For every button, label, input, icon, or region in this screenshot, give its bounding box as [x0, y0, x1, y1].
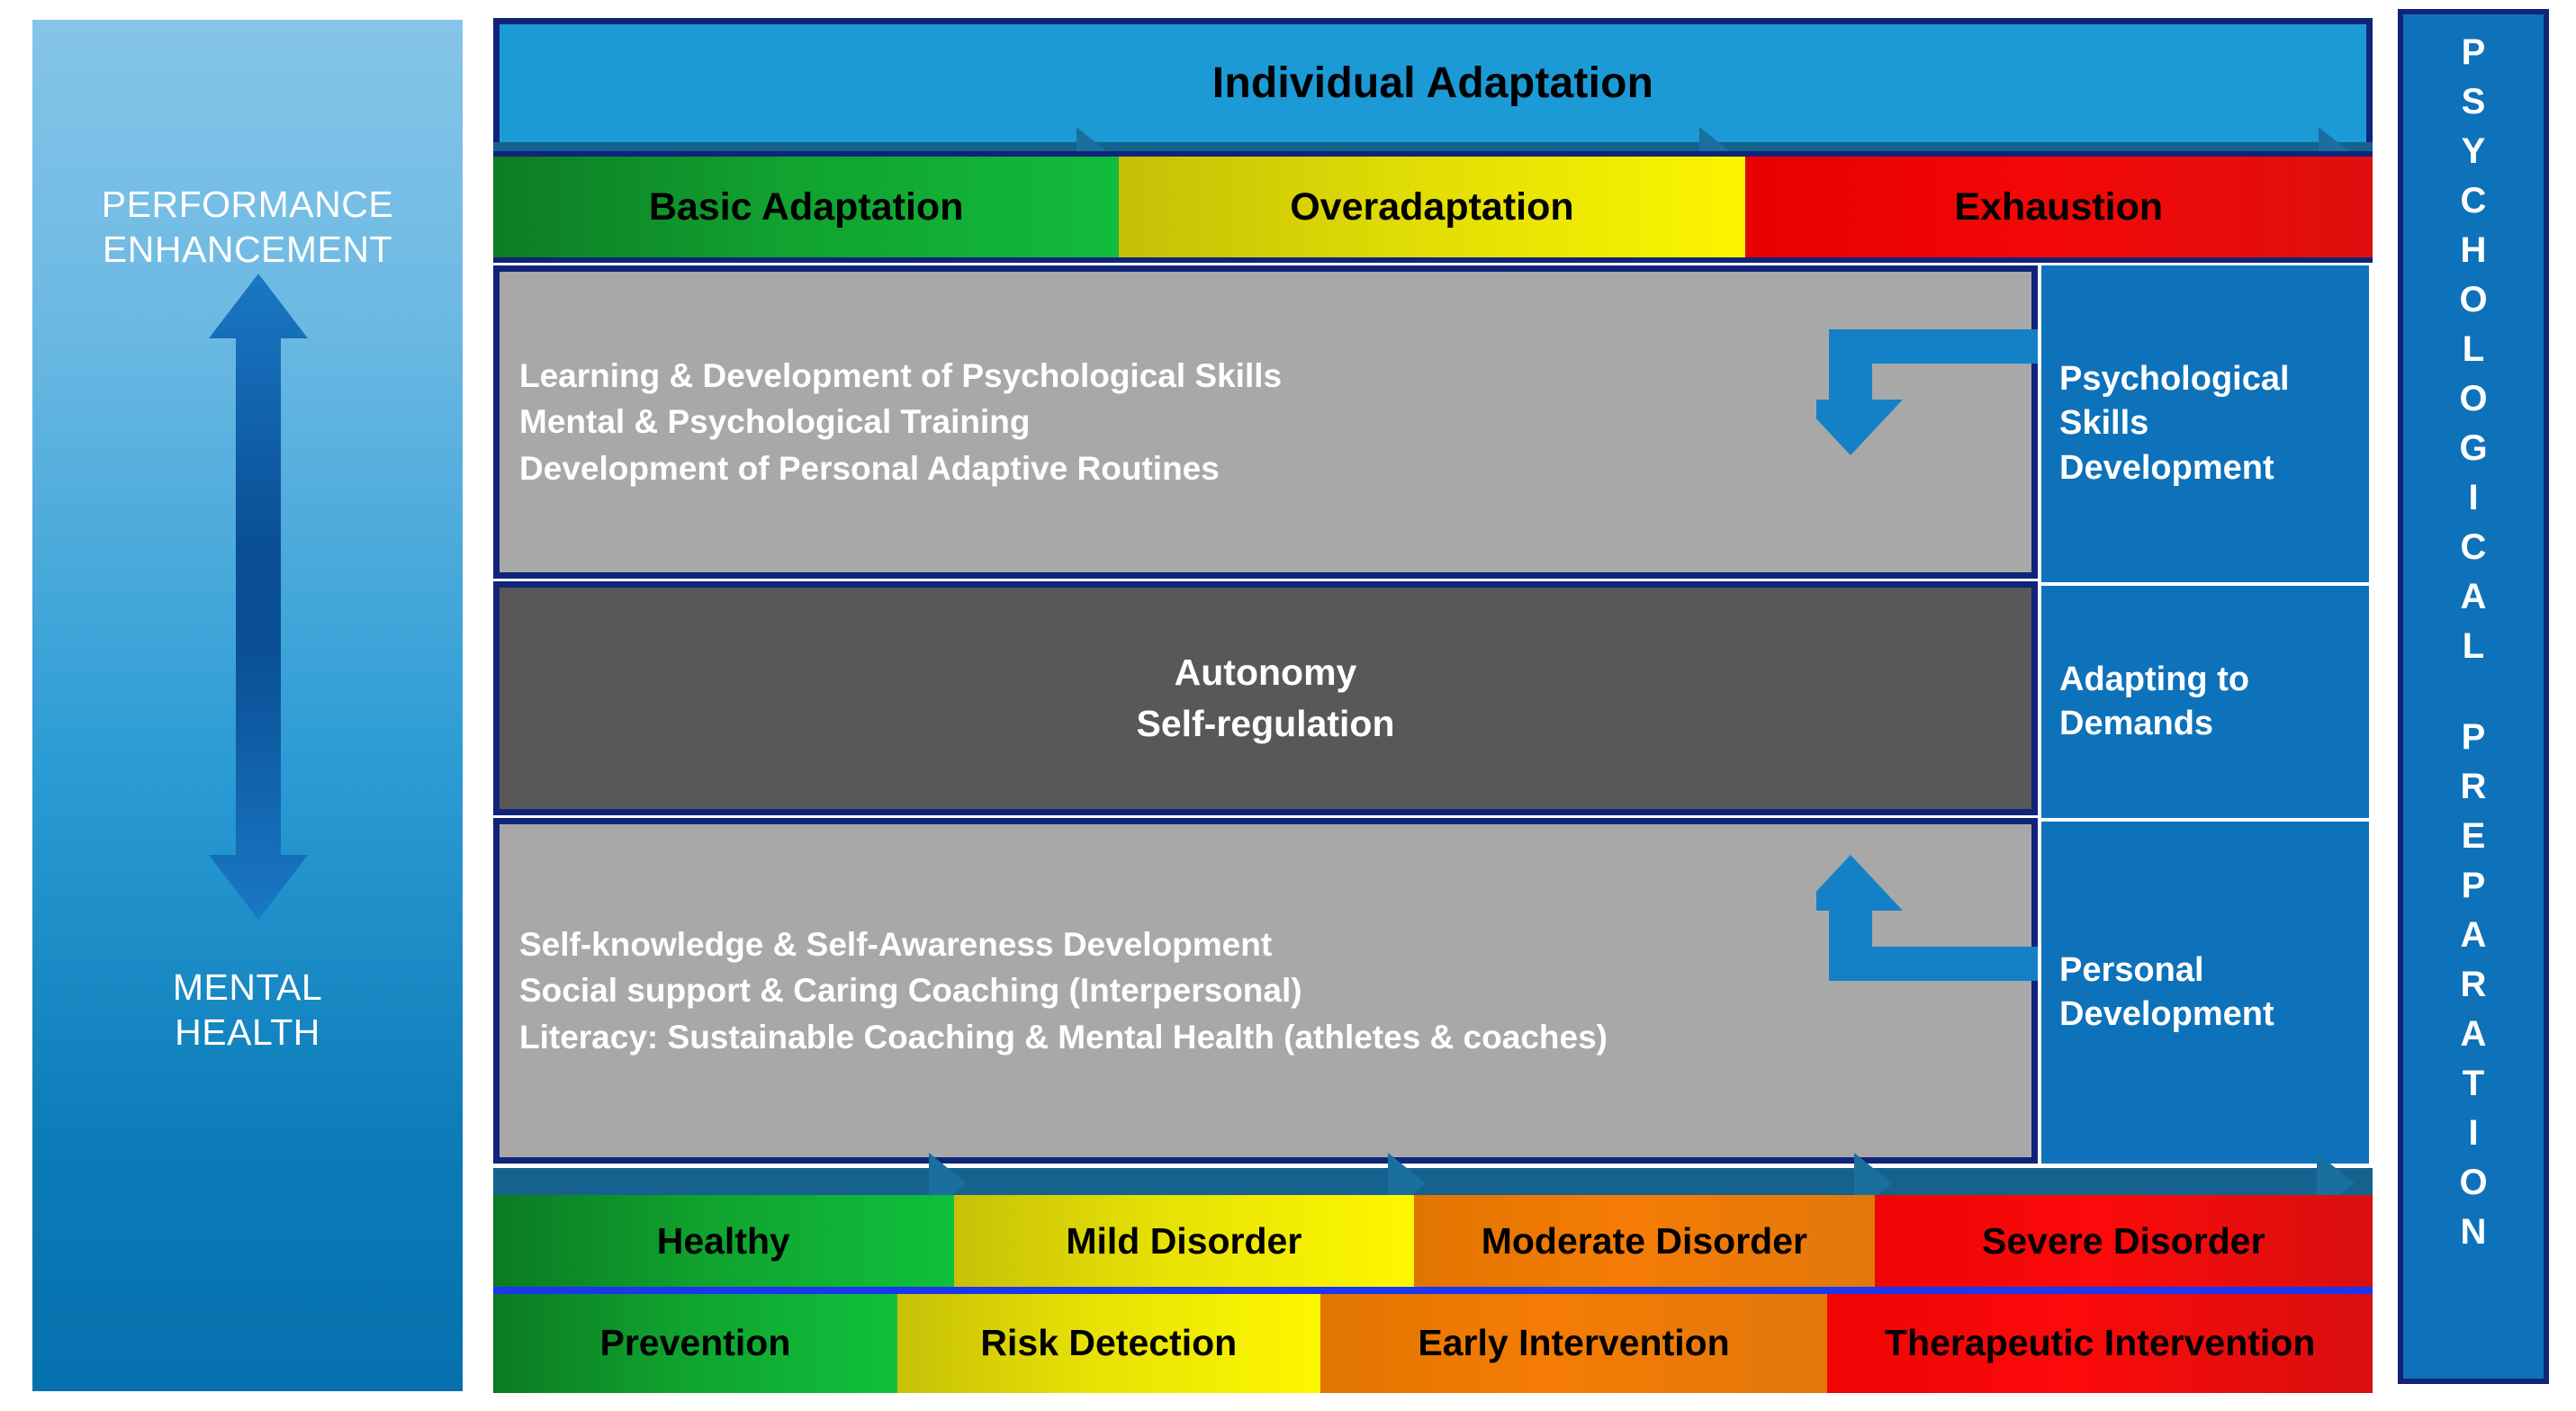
intervention-label: Early Intervention — [1418, 1322, 1729, 1364]
vertical-title-letter: A — [2461, 1009, 2487, 1058]
intervention-label: Risk Detection — [980, 1322, 1237, 1364]
elbow-arrow-down-icon — [1816, 329, 2059, 455]
vertical-title-letter: P — [2462, 860, 2486, 910]
stage-label: Basic Adaptation — [649, 185, 964, 229]
bottom-progress-arrow-rail — [493, 1168, 2373, 1199]
vertical-title-letter: R — [2461, 761, 2487, 811]
side-label-text: Psychological Skills Development — [2059, 357, 2351, 490]
content-line: Literacy: Sustainable Coaching & Mental … — [519, 1014, 2012, 1060]
personal-development-content-box: Self-knowledge & Self-Awareness Developm… — [493, 818, 2038, 1164]
performance-enhancement-line1: PERFORMANCE — [32, 182, 463, 227]
stage-label: Overadaptation — [1290, 185, 1573, 229]
side-label-text: Personal Development — [2059, 948, 2351, 1038]
vertical-title-letter: L — [2463, 324, 2484, 373]
status-moderate-disorder[interactable]: Moderate Disorder — [1414, 1195, 1875, 1289]
vertical-title-letter: A — [2461, 910, 2487, 959]
vertical-title-letter: G — [2459, 423, 2487, 472]
stage-exhaustion[interactable]: Exhaustion — [1745, 157, 2373, 257]
stage-basic-adaptation[interactable]: Basic Adaptation — [493, 157, 1119, 257]
vertical-title-letter: S — [2462, 76, 2486, 126]
side-label-psychological-skills-development[interactable]: Psychological Skills Development — [2041, 265, 2369, 582]
mental-health-label: MENTAL HEALTH — [32, 965, 463, 1055]
intervention-bar: Prevention Risk Detection Early Interven… — [493, 1294, 2373, 1393]
vertical-title-letter: E — [2462, 811, 2486, 860]
status-mild-disorder[interactable]: Mild Disorder — [954, 1195, 1415, 1289]
vertical-title-letter: P — [2462, 712, 2486, 761]
main-diagram-column: Individual Adaptation Basic Adaptation O… — [493, 9, 2373, 1393]
individual-adaptation-banner: Individual Adaptation — [493, 18, 2373, 148]
content-line: Autonomy — [1175, 647, 1357, 698]
status-label: Severe Disorder — [1982, 1220, 2265, 1263]
adaptation-stage-bar: Basic Adaptation Overadaptation Exhausti… — [493, 151, 2373, 263]
content-line: Mental & Psychological Training — [519, 399, 2012, 445]
vertical-title-letter: C — [2461, 175, 2487, 225]
intervention-early-intervention[interactable]: Early Intervention — [1320, 1294, 1828, 1393]
vertical-title-letter: O — [2459, 1157, 2487, 1207]
status-severe-disorder[interactable]: Severe Disorder — [1875, 1195, 2373, 1289]
side-label-adapting-to-demands[interactable]: Adapting to Demands — [2041, 586, 2369, 818]
status-label: Mild Disorder — [1066, 1220, 1302, 1263]
content-line: Self-knowledge & Self-Awareness Developm… — [519, 921, 2012, 967]
vertical-title-letter: A — [2461, 571, 2487, 621]
status-healthy[interactable]: Healthy — [493, 1195, 954, 1289]
intervention-label: Prevention — [600, 1322, 791, 1364]
diagram-canvas: PERFORMANCE ENHANCEMENT MENTAL HEALTH — [0, 0, 2576, 1411]
vertical-title-letter: H — [2461, 225, 2487, 274]
vertical-title-letter: C — [2461, 522, 2487, 571]
vertical-title-letter: P — [2462, 27, 2486, 76]
intervention-prevention[interactable]: Prevention — [493, 1294, 897, 1393]
side-label-column: Psychological Skills Development Adaptin… — [2038, 265, 2373, 1164]
intervention-risk-detection[interactable]: Risk Detection — [897, 1294, 1320, 1393]
stage-label: Exhaustion — [1954, 185, 2163, 229]
side-label-text: Adapting to Demands — [2059, 658, 2351, 747]
content-line: Learning & Development of Psychological … — [519, 353, 2012, 399]
psychological-preparation-strip: PSYCHOLOGICALPREPARATION — [2398, 9, 2549, 1384]
stage-overadaptation[interactable]: Overadaptation — [1119, 157, 1744, 257]
vertical-title-letter: T — [2463, 1058, 2484, 1108]
performance-enhancement-label: PERFORMANCE ENHANCEMENT — [32, 182, 463, 272]
double-headed-vertical-arrow-icon — [209, 274, 308, 920]
vertical-title-letter: I — [2468, 472, 2478, 522]
mental-health-line1: MENTAL — [32, 965, 463, 1010]
banner-title: Individual Adaptation — [1212, 58, 1653, 108]
vertical-title-letter: L — [2463, 621, 2484, 670]
vertical-title-letter: N — [2461, 1207, 2487, 1256]
vertical-title-letter: O — [2459, 373, 2487, 423]
mental-health-line2: HEALTH — [32, 1010, 463, 1055]
left-axis-panel: PERFORMANCE ENHANCEMENT MENTAL HEALTH — [32, 20, 463, 1391]
content-line: Social support & Caring Coaching (Interp… — [519, 967, 2012, 1013]
status-label: Healthy — [657, 1220, 790, 1263]
status-action-divider — [493, 1287, 2373, 1294]
vertical-title-letter: Y — [2462, 126, 2486, 175]
vertical-title-letter: I — [2468, 1108, 2478, 1157]
psychological-skills-content-box: Learning & Development of Psychological … — [493, 265, 2038, 579]
mental-health-status-bar: Healthy Mild Disorder Moderate Disorder … — [493, 1195, 2373, 1289]
status-label: Moderate Disorder — [1482, 1220, 1807, 1263]
content-line: Development of Personal Adaptive Routine… — [519, 445, 2012, 491]
intervention-label: Therapeutic Intervention — [1885, 1322, 2315, 1364]
performance-enhancement-line2: ENHANCEMENT — [32, 227, 463, 272]
vertical-title-letter: R — [2461, 959, 2487, 1009]
autonomy-content-box: Autonomy Self-regulation — [493, 581, 2038, 815]
vertical-title-letter: O — [2459, 274, 2487, 324]
content-line: Self-regulation — [1136, 698, 1394, 750]
side-label-personal-development[interactable]: Personal Development — [2041, 822, 2369, 1164]
intervention-therapeutic-intervention[interactable]: Therapeutic Intervention — [1827, 1294, 2373, 1393]
elbow-arrow-up-icon — [1816, 855, 2059, 981]
